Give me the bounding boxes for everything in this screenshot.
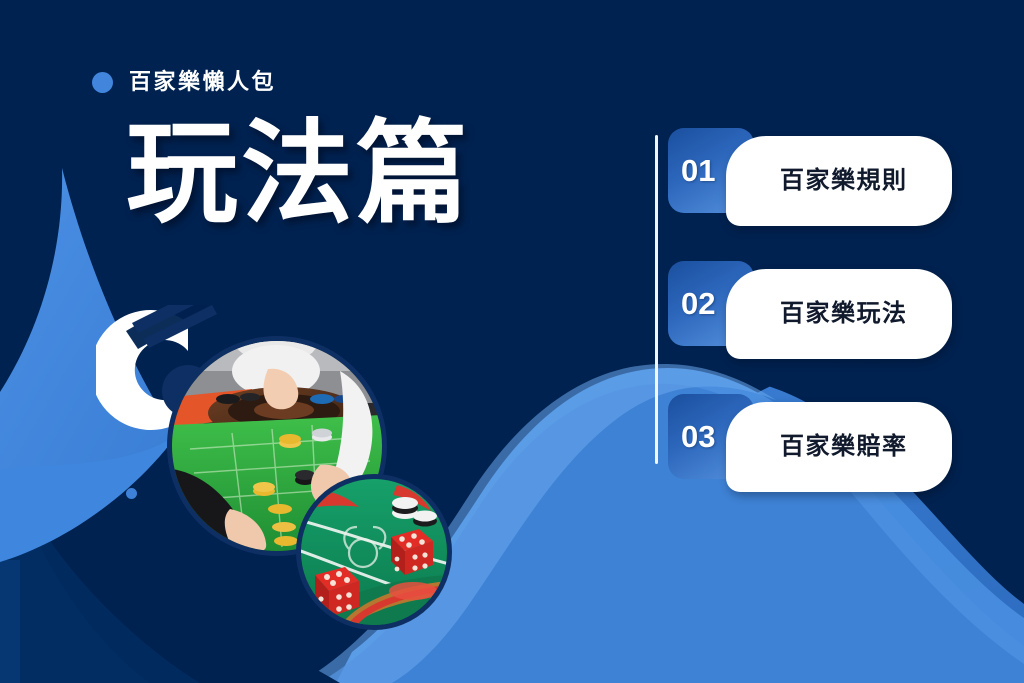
agenda-number: 03	[681, 421, 715, 452]
agenda-number: 02	[681, 288, 715, 319]
agenda-label: 百家樂玩法	[780, 302, 908, 326]
agenda-item-01[interactable]: 01 百家樂規則	[668, 128, 952, 223]
agenda-label: 百家樂規則	[780, 169, 908, 193]
dice-on-felt-photo	[296, 474, 452, 630]
kicker-label: 百家樂懶人包	[129, 71, 276, 93]
photo-image	[301, 479, 447, 625]
agenda-number: 01	[681, 155, 715, 186]
agenda-label-pill[interactable]: 百家樂玩法	[726, 269, 952, 359]
agenda-label-pill[interactable]: 百家樂規則	[726, 136, 952, 226]
agenda-item-03[interactable]: 03 百家樂賠率	[668, 394, 952, 489]
agenda-label: 百家樂賠率	[780, 435, 908, 459]
agenda-label-pill[interactable]: 百家樂賠率	[726, 402, 952, 492]
small-blue-dot-icon	[126, 488, 137, 499]
bullet-dot-icon	[92, 72, 113, 93]
agenda-item-02[interactable]: 02 百家樂玩法	[668, 261, 952, 356]
vertical-divider	[655, 135, 658, 464]
page-title: 玩法篇	[126, 118, 471, 230]
slide-canvas: 百家樂懶人包 玩法篇	[0, 0, 1024, 683]
agenda-list: 01 百家樂規則 02 百家樂玩法 03 百家樂賠率	[652, 128, 952, 473]
kicker-row: 百家樂懶人包	[92, 66, 276, 98]
